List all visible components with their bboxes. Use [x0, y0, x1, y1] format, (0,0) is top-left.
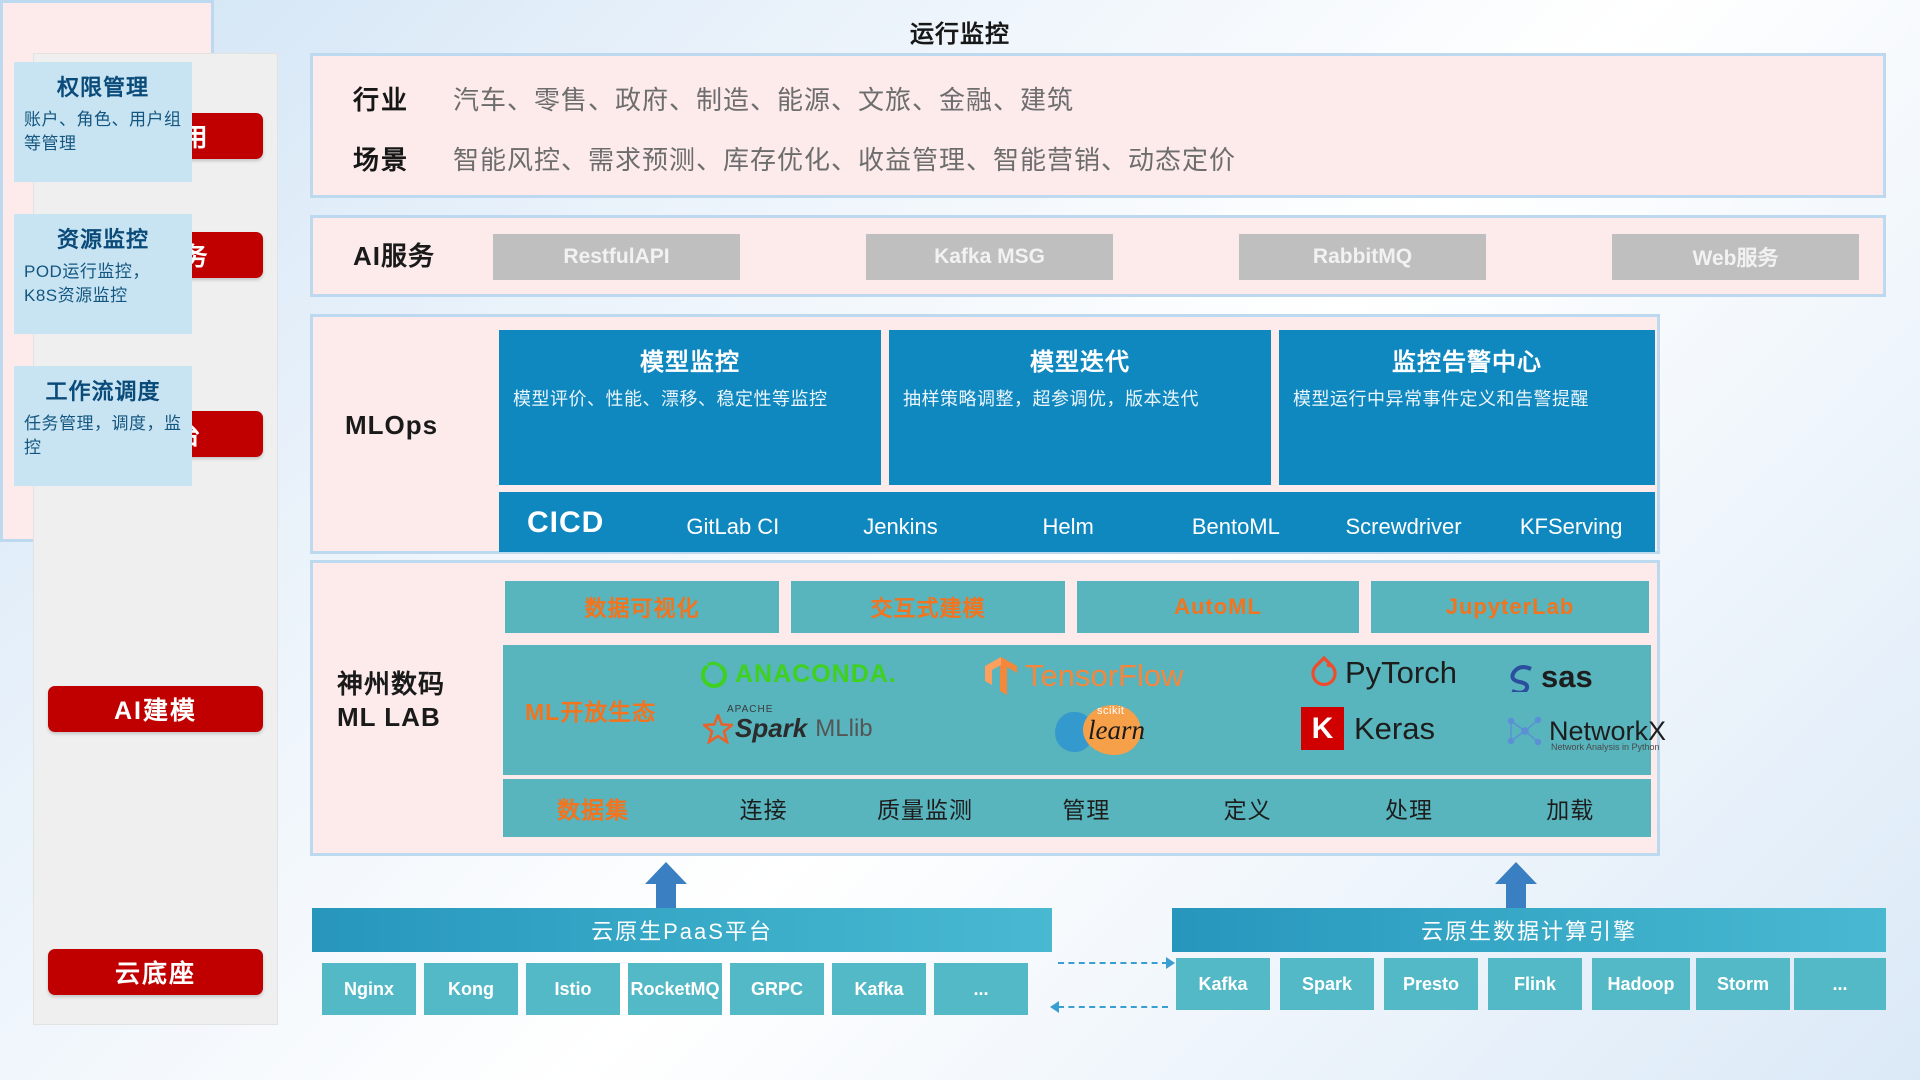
anaconda-logo: ANACONDA.: [699, 659, 897, 689]
cloud-chip-istio[interactable]: Istio: [526, 963, 620, 1015]
cloud-chip-rocketmq[interactable]: RocketMQ: [628, 963, 722, 1015]
service-chip-kafka-msg[interactable]: Kafka MSG: [866, 234, 1113, 280]
tab-label: 交互式建模: [870, 591, 985, 623]
card-title: 权限管理: [24, 70, 182, 102]
tab-label: AutoML: [1174, 594, 1262, 620]
learn-text: learn: [1088, 715, 1145, 746]
tensorflow-logo: TensorFlow: [981, 655, 1184, 697]
tensorflow-glyph: [981, 655, 1021, 697]
card-title: 模型监控: [513, 342, 867, 377]
cicd-item-helm[interactable]: Helm: [984, 492, 1152, 542]
engine-chip-hadoop[interactable]: Hadoop: [1592, 958, 1690, 1010]
dataset-row: 数据集 连接 质量监测 管理 定义 处理 加载: [503, 779, 1651, 837]
chip-label: Istio: [554, 979, 591, 1000]
scenario-key: 场景: [353, 140, 409, 177]
pytorch-glyph: [1308, 655, 1340, 691]
card-title: 工作流调度: [24, 374, 182, 406]
ecosystem-label: ML开放生态: [525, 693, 656, 727]
chip-label: Kafka MSG: [934, 245, 1045, 269]
cloud-paas-header: 云原生PaaS平台: [312, 908, 1052, 952]
tool-tab-data-visualization[interactable]: 数据可视化: [503, 579, 781, 635]
chip-label: Kafka: [1198, 974, 1247, 995]
cicd-item-jenkins[interactable]: Jenkins: [817, 492, 985, 542]
cloud-chip-grpc[interactable]: GRPC: [730, 963, 824, 1015]
scikit-learn-logo: scikit learn: [1055, 709, 1205, 753]
anaconda-glyph: [699, 659, 729, 689]
mlops-label: MLOps: [345, 409, 438, 442]
spark-mllib-logo: Spark MLlib APACHE: [703, 713, 873, 744]
chip-label: RestfulAPI: [563, 245, 669, 269]
chip-label: Flink: [1514, 974, 1556, 995]
cicd-item-bentoml[interactable]: BentoML: [1152, 492, 1320, 542]
keras-logo: K Keras: [1301, 707, 1435, 750]
cicd-title: CICD: [499, 492, 649, 540]
ml-ecosystem-box: ML开放生态 ANACONDA. TensorFlow: [503, 645, 1651, 775]
card-desc: 模型运行中异常事件定义和告警提醒: [1293, 387, 1641, 413]
pytorch-logo: PyTorch: [1308, 655, 1457, 691]
dashed-connector-bottom: [1058, 1006, 1168, 1008]
chip-label: Kafka: [854, 979, 903, 1000]
mlops-band: MLOps 模型监控 模型评价、性能、漂移、稳定性等监控 模型迭代 抽样策略调整…: [310, 314, 1660, 554]
chip-label: Storm: [1717, 974, 1769, 995]
chip-label: Presto: [1403, 974, 1459, 995]
chip-label: RabbitMQ: [1313, 245, 1412, 269]
tensorflow-text: TensorFlow: [1025, 658, 1184, 694]
ai-service-label: AI服务: [353, 240, 435, 273]
mllab-label: 神州数码 ML LAB: [337, 668, 445, 733]
ai-service-band: AI服务 RestfulAPI Kafka MSG RabbitMQ Web服务: [310, 215, 1886, 297]
keras-text: Keras: [1354, 711, 1435, 747]
dataset-item-connect[interactable]: 连接: [683, 791, 844, 825]
tool-tab-jupyterlab[interactable]: JupyterLab: [1369, 579, 1651, 635]
application-band: 行业 汽车、零售、政府、制造、能源、文旅、金融、建筑 场景 智能风控、需求预测、…: [310, 53, 1886, 198]
rail-label: 云底座: [115, 954, 196, 990]
industry-key: 行业: [353, 80, 409, 117]
sas-logo: sas: [1505, 659, 1593, 695]
cloud-chip-nginx[interactable]: Nginx: [322, 963, 416, 1015]
ai-modeling-band: 神州数码 ML LAB 数据可视化 交互式建模 AutoML JupyterLa…: [310, 560, 1660, 856]
cicd-item-screwdriver[interactable]: Screwdriver: [1320, 492, 1488, 542]
dataset-item-manage[interactable]: 管理: [1006, 791, 1167, 825]
cicd-item-kfserving[interactable]: KFServing: [1487, 492, 1655, 542]
dataset-item-define[interactable]: 定义: [1167, 791, 1328, 825]
card-title: 模型迭代: [903, 342, 1257, 377]
architecture-diagram: 决策应用 模型服务 ML平台 AI建模 云底座 行业 汽车、零售、政府、制造、能…: [0, 0, 1920, 1080]
dataset-item-quality-monitoring[interactable]: 质量监测: [844, 791, 1005, 825]
networkx-glyph: [1503, 711, 1545, 751]
service-chip-web-service[interactable]: Web服务: [1612, 234, 1859, 280]
card-title: 监控告警中心: [1293, 342, 1641, 377]
rail-item-cloud-base[interactable]: 云底座: [48, 949, 263, 995]
chip-label: ...: [1832, 974, 1847, 995]
dashed-arrow-left: [1050, 1001, 1059, 1013]
rail-label: AI建模: [114, 691, 197, 727]
cloud-data-engine-header: 云原生数据计算引擎: [1172, 908, 1886, 952]
card-desc: 账户、角色、用户组等管理: [24, 108, 182, 156]
scikit-glyph: scikit learn: [1055, 709, 1205, 753]
engine-chip-storm[interactable]: Storm: [1696, 958, 1790, 1010]
card-desc: 模型评价、性能、漂移、稳定性等监控: [513, 387, 867, 413]
spark-text: Spark: [735, 713, 807, 744]
spark-star-glyph: [703, 714, 733, 744]
sas-text: sas: [1541, 659, 1593, 695]
cicd-bar: CICD GitLab CI Jenkins Helm BentoML Scre…: [499, 492, 1655, 552]
mlops-card-model-monitoring[interactable]: 模型监控 模型评价、性能、漂移、稳定性等监控: [499, 330, 881, 485]
chip-label: GRPC: [751, 979, 803, 1000]
chip-label: Web服务: [1693, 242, 1779, 272]
chip-label: ...: [973, 979, 988, 1000]
dataset-item-process[interactable]: 处理: [1328, 791, 1489, 825]
networkx-sub: Network Analysis in Python: [1551, 742, 1660, 752]
dataset-item-load[interactable]: 加载: [1490, 791, 1651, 825]
mlops-card-model-iteration[interactable]: 模型迭代 抽样策略调整，超参调优，版本迭代: [889, 330, 1271, 485]
mllib-text: MLlib: [815, 715, 872, 743]
engine-chip-more[interactable]: ...: [1794, 958, 1886, 1010]
spark-apache-sub: APACHE: [727, 704, 773, 715]
networkx-logo: NetworkX Network Analysis in Python: [1503, 711, 1666, 751]
header-label: 云原生PaaS平台: [591, 914, 773, 946]
pytorch-text: PyTorch: [1345, 655, 1457, 691]
card-desc: 任务管理，调度，监控: [24, 412, 182, 460]
tool-tab-interactive-modeling[interactable]: 交互式建模: [789, 579, 1067, 635]
chip-label: Nginx: [344, 979, 394, 1000]
chip-label: Spark: [1302, 974, 1352, 995]
card-title: 资源监控: [24, 222, 182, 254]
cicd-item-gitlabci[interactable]: GitLab CI: [649, 492, 817, 542]
tab-label: JupyterLab: [1446, 594, 1575, 620]
anaconda-text: ANACONDA.: [735, 660, 897, 689]
tool-tab-automl[interactable]: AutoML: [1075, 579, 1361, 635]
engine-chip-kafka[interactable]: Kafka: [1176, 958, 1270, 1010]
engine-chip-presto[interactable]: Presto: [1384, 958, 1478, 1010]
card-desc: POD运行监控，K8S资源监控: [24, 260, 182, 308]
rail-item-ai-modeling[interactable]: AI建模: [48, 686, 263, 732]
left-rail: [33, 53, 278, 1025]
monitor-card-resource[interactable]: 资源监控 POD运行监控，K8S资源监控: [14, 214, 192, 334]
monitor-card-workflow[interactable]: 工作流调度 任务管理，调度，监控: [14, 366, 192, 486]
chip-label: Kong: [448, 979, 494, 1000]
sas-glyph: [1505, 662, 1539, 692]
scenario-value: 智能风控、需求预测、库存优化、收益管理、智能营销、动态定价: [453, 140, 1236, 177]
dataset-label: 数据集: [503, 791, 683, 825]
keras-glyph: K: [1301, 707, 1344, 750]
card-desc: 抽样策略调整，超参调优，版本迭代: [903, 387, 1257, 413]
industry-value: 汽车、零售、政府、制造、能源、文旅、金融、建筑: [453, 80, 1074, 117]
tab-label: 数据可视化: [584, 591, 699, 623]
cloud-chip-kong[interactable]: Kong: [424, 963, 518, 1015]
runtime-monitor-panel: 运行监控 权限管理 账户、角色、用户组等管理 资源监控 POD运行监控，K8S资…: [0, 0, 214, 542]
service-chip-rabbitmq[interactable]: RabbitMQ: [1239, 234, 1486, 280]
header-label: 云原生数据计算引擎: [1421, 914, 1637, 946]
mlops-card-alert-center[interactable]: 监控告警中心 模型运行中异常事件定义和告警提醒: [1279, 330, 1655, 485]
engine-chip-spark[interactable]: Spark: [1280, 958, 1374, 1010]
runtime-monitor-title: 运行监控: [0, 14, 1920, 49]
monitor-card-permission[interactable]: 权限管理 账户、角色、用户组等管理: [14, 62, 192, 182]
chip-label: Hadoop: [1608, 974, 1675, 995]
cloud-chip-kafka[interactable]: Kafka: [832, 963, 926, 1015]
engine-chip-flink[interactable]: Flink: [1488, 958, 1582, 1010]
chip-label: RocketMQ: [631, 979, 720, 1000]
dashed-connector-top: [1058, 962, 1168, 964]
cloud-chip-more[interactable]: ...: [934, 963, 1028, 1015]
dashed-arrow-right: [1166, 957, 1175, 969]
service-chip-restfulapi[interactable]: RestfulAPI: [493, 234, 740, 280]
